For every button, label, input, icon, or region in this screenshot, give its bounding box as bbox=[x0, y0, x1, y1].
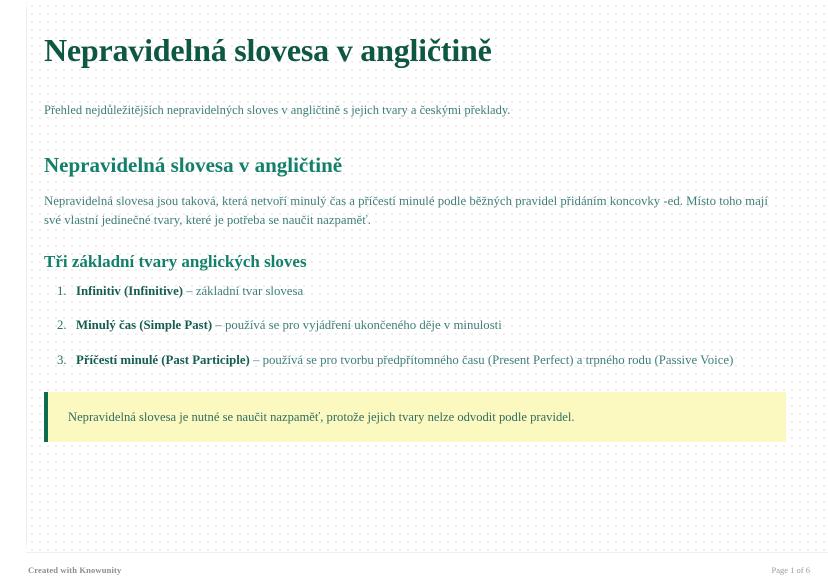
highlight-callout: Nepravidelná slovesa je nutné se naučit … bbox=[44, 392, 786, 443]
list-item-term: Infinitiv (Infinitive) bbox=[76, 284, 183, 298]
list-item: 2.Minulý čas (Simple Past) – používá se … bbox=[44, 316, 786, 335]
list-item-dash: – bbox=[250, 353, 263, 367]
list-item-term: Příčestí minulé (Past Participle) bbox=[76, 353, 250, 367]
list-item-term: Minulý čas (Simple Past) bbox=[76, 318, 212, 332]
section-subheading: Tři základní tvary anglických sloves bbox=[44, 231, 786, 272]
list-item: 3.Příčestí minulé (Past Participle) – po… bbox=[44, 351, 786, 370]
verb-forms-list: 1.Infinitiv (Infinitive) – základní tvar… bbox=[44, 272, 786, 370]
document-subtitle: Přehled nejdůležitějších nepravidelných … bbox=[44, 70, 786, 120]
list-item-dash: – bbox=[183, 284, 196, 298]
page-title: Nepravidelná slovesa v angličtině bbox=[44, 0, 786, 70]
list-item-description: používá se pro vyjádření ukončeného děje… bbox=[225, 318, 502, 332]
list-item: 1.Infinitiv (Infinitive) – základní tvar… bbox=[44, 282, 786, 301]
section-heading: Nepravidelná slovesa v angličtině bbox=[44, 120, 786, 178]
section-paragraph: Nepravidelná slovesa jsou taková, která … bbox=[44, 178, 784, 231]
list-item-number: 2. bbox=[57, 316, 67, 335]
list-item-description: základní tvar slovesa bbox=[196, 284, 303, 298]
document-content: Nepravidelná slovesa v angličtině Přehle… bbox=[44, 0, 786, 442]
margin-rule-line bbox=[26, 0, 27, 552]
page-footer: Created with Knowunity Page 1 of 6 bbox=[26, 553, 828, 586]
list-item-dash: – bbox=[212, 318, 225, 332]
footer-page-number: Page 1 of 6 bbox=[772, 565, 810, 575]
left-margin-gutter bbox=[0, 0, 26, 586]
list-item-description: používá se pro tvorbu předpřítomného čas… bbox=[263, 353, 734, 367]
footer-credit: Created with Knowunity bbox=[28, 565, 121, 575]
document-page: Nepravidelná slovesa v angličtině Přehle… bbox=[0, 0, 828, 586]
list-item-number: 1. bbox=[57, 282, 67, 301]
callout-text: Nepravidelná slovesa je nutné se naučit … bbox=[68, 408, 768, 427]
list-item-number: 3. bbox=[57, 351, 67, 370]
